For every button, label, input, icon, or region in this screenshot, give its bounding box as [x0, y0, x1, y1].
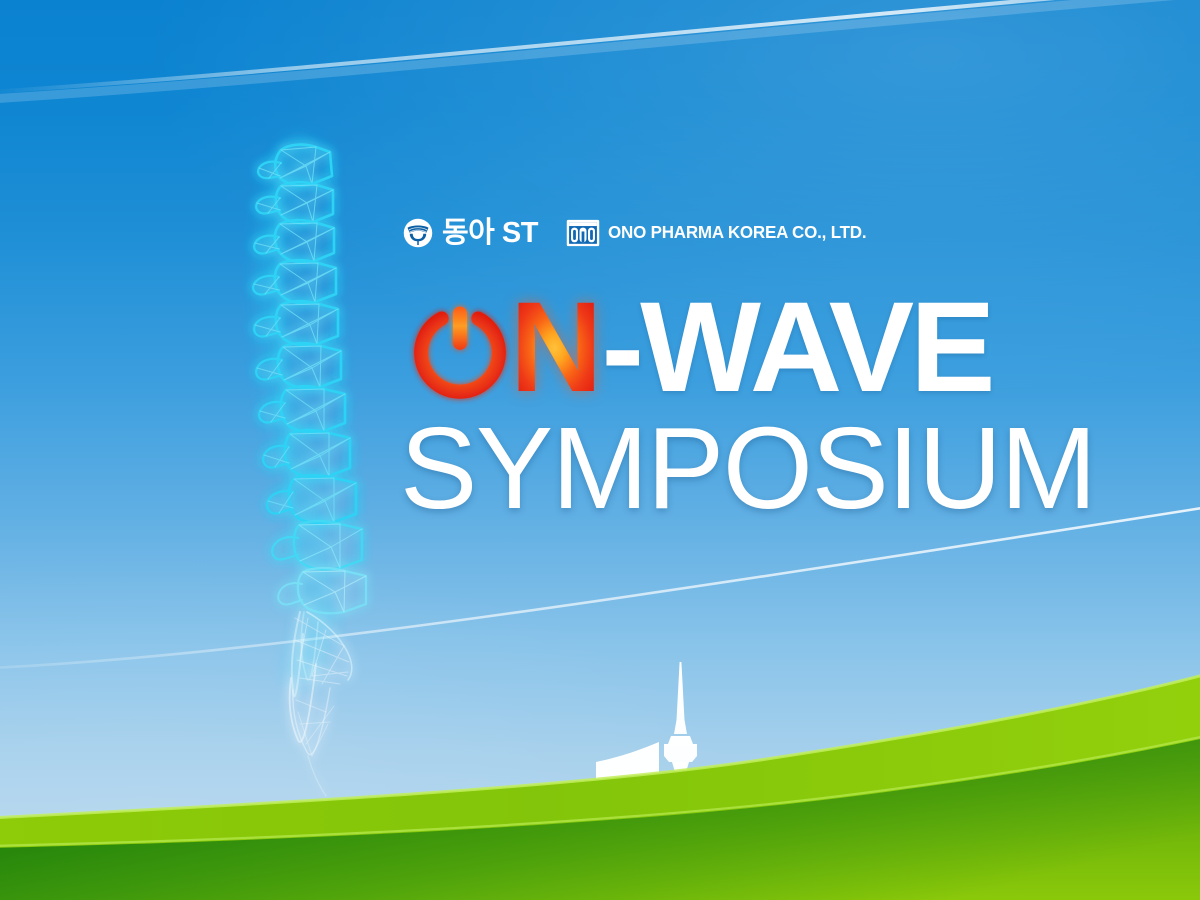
event-title-line2: SYMPOSIUM — [400, 410, 1095, 526]
ono-pharma-logo-label: ONO PHARMA KOREA CO., LTD. — [608, 224, 866, 242]
sponsor-logo-ono-pharma[interactable]: ONO PHARMA KOREA CO., LTD. — [566, 219, 874, 247]
dong-a-st-logo-label: 동아 ST — [442, 219, 538, 248]
event-title-line1: N -WAVE — [406, 296, 992, 408]
ono-box-logo-mark — [566, 219, 600, 247]
poster-canvas: 동아 ST ONO PHARMA KO — [0, 0, 1200, 900]
sponsor-logo-dong-a-st[interactable]: 동아 ST — [403, 218, 538, 248]
title-rest-text: -WAVE — [601, 284, 991, 412]
sponsor-logo-row: 동아 ST ONO PHARMA KO — [403, 218, 874, 248]
dong-a-st-logo-mark — [403, 218, 433, 248]
title-accent-letter: N — [510, 284, 599, 412]
power-button-icon — [406, 298, 514, 406]
wireframe-spine-illustration — [253, 145, 366, 796]
top-light-curve-glow — [0, 0, 1200, 99]
